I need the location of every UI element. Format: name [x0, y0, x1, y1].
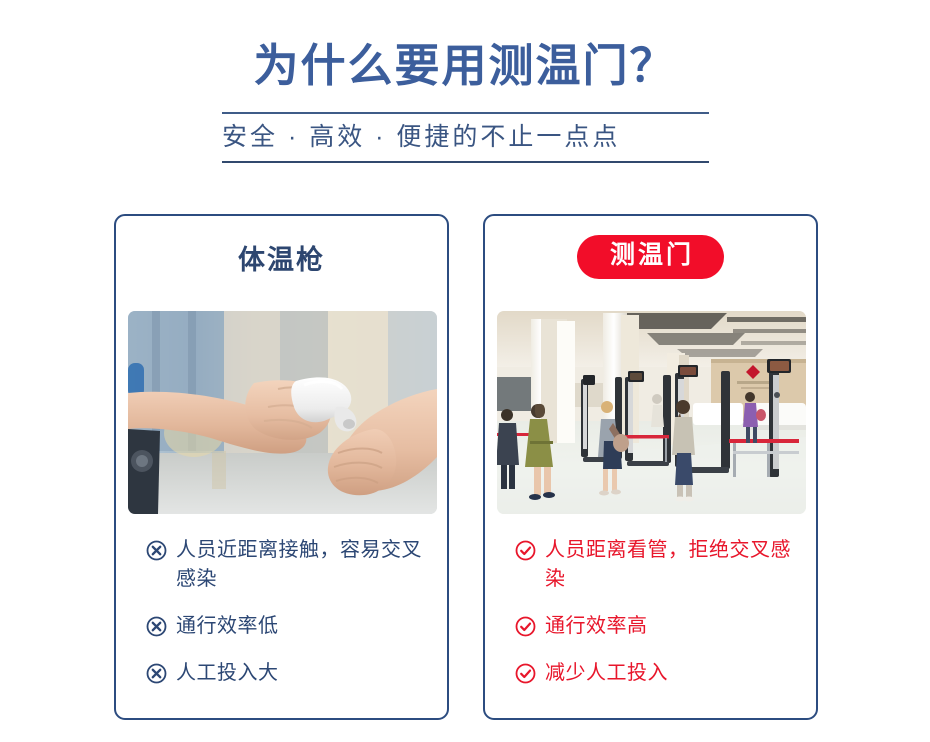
list-item: 人员近距离接触，容易交叉感染 — [146, 536, 434, 594]
circle-x-icon — [146, 540, 167, 561]
comparison-cards: 体温枪 — [0, 214, 930, 724]
bullet-list-temperature-gate: 人员距离看管，拒绝交叉感染 通行效率高 减少人工 — [515, 536, 803, 688]
circle-x-icon — [146, 663, 167, 684]
list-item: 通行效率高 — [515, 612, 803, 641]
bullet-list-thermometer-gun: 人员近距离接触，容易交叉感染 通行效率低 人工投 — [146, 536, 434, 688]
card-title-thermometer-gun: 体温枪 — [238, 238, 325, 277]
list-item: 人员距离看管，拒绝交叉感染 — [515, 536, 803, 594]
circle-check-icon — [515, 540, 536, 561]
card-title-badge-temperature-gate: 测温门 — [577, 235, 724, 279]
list-item: 通行效率低 — [146, 612, 434, 641]
list-item-label: 通行效率低 — [176, 612, 279, 641]
list-item: 减少人工投入 — [515, 659, 803, 688]
card-temperature-gate[interactable]: 测温门 — [483, 214, 818, 720]
card-thermometer-gun[interactable]: 体温枪 — [114, 214, 449, 720]
photo-handheld-thermometer-gun — [128, 311, 437, 514]
list-item-label: 人工投入大 — [176, 659, 279, 688]
list-item-label: 人员距离看管，拒绝交叉感染 — [545, 536, 803, 594]
list-item: 人工投入大 — [146, 659, 434, 688]
page-header: 为什么要用测温门？ — [0, 0, 930, 89]
circle-check-icon — [515, 663, 536, 684]
list-item-label: 人员近距离接触，容易交叉感染 — [176, 536, 434, 594]
circle-check-icon — [515, 616, 536, 637]
photo-walkthrough-temperature-gates — [497, 311, 806, 514]
list-item-label: 减少人工投入 — [545, 659, 668, 688]
subtitle-rule-block: 安全 · 高效 · 便捷的不止一点点 — [222, 112, 709, 163]
page-subtitle: 安全 · 高效 · 便捷的不止一点点 — [222, 114, 709, 161]
list-item-label: 通行效率高 — [545, 612, 648, 641]
page-title: 为什么要用测温门？ — [0, 0, 930, 89]
card-header-right: 测温门 — [485, 216, 816, 298]
card-header-left: 体温枪 — [116, 216, 447, 298]
circle-x-icon — [146, 616, 167, 637]
